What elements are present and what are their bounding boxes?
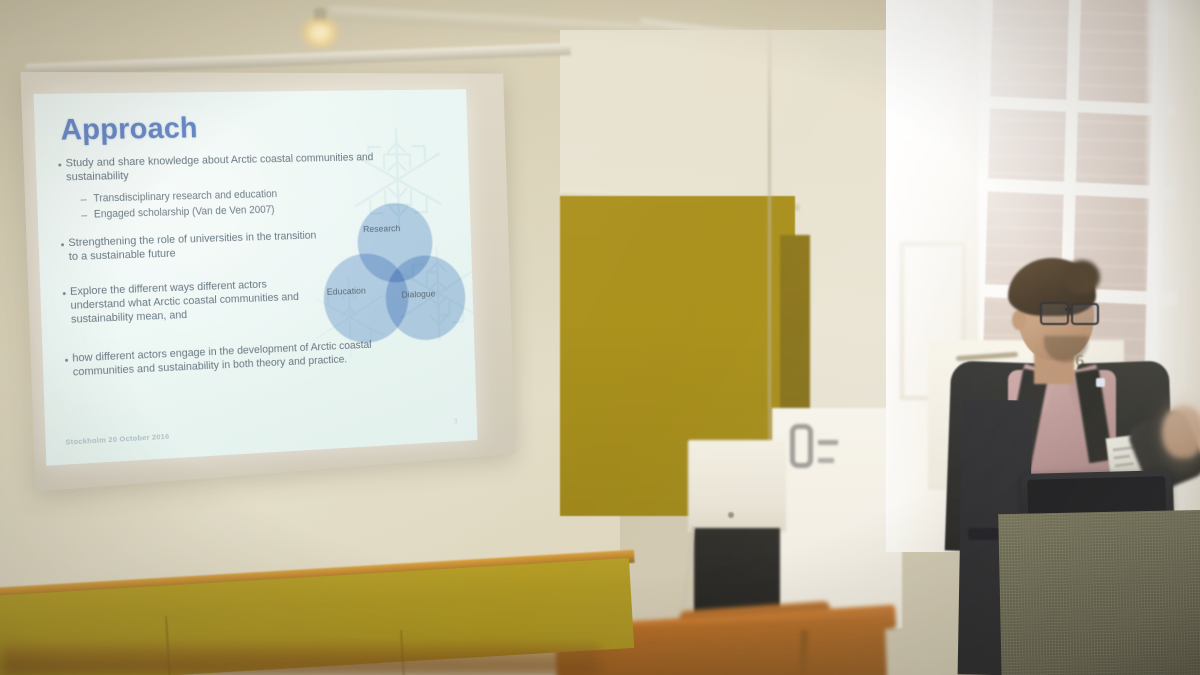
spotlight-glow: [300, 18, 340, 50]
whiteboard-mark-icon: [818, 458, 834, 463]
lectern-clip: [968, 528, 1002, 540]
whiteboard-mark-icon: [790, 424, 813, 468]
bullet-dot-icon: •: [58, 286, 70, 301]
venn-label-education: Education: [327, 286, 366, 298]
slide-footer: Stockholm 20 October 2016: [65, 432, 169, 447]
bullet-text: Explore the different ways different act…: [70, 277, 320, 327]
projected-slide: Approach • Study and share knowledge abo…: [34, 89, 478, 465]
venn-label-research: Research: [363, 223, 400, 235]
wall-cabinet: [688, 440, 786, 532]
whiteboard-mark-icon: [818, 440, 838, 445]
ceiling-spotlight-icon: [300, 8, 340, 50]
badge-text-line: [1114, 455, 1130, 460]
foreground-blur: [0, 645, 600, 675]
cabinet-knob: [728, 512, 734, 518]
bullet-text: Study and share knowledge about Arctic c…: [65, 151, 386, 184]
venn-diagram: Research Education Dialogue: [320, 201, 469, 344]
glasses-lens-right: [1071, 303, 1099, 325]
bullet-item: • Study and share knowledge about Arctic…: [54, 150, 430, 184]
badge-text-line: [1115, 462, 1134, 467]
wall-corner: [768, 20, 771, 480]
bullet-text: how different actors engage in the devel…: [72, 338, 393, 379]
glasses-lens-left: [1040, 302, 1069, 325]
dash-icon: –: [80, 193, 93, 207]
hair-curl: [1064, 260, 1100, 294]
bullet-text: Strengthening the role of universities i…: [68, 230, 324, 265]
cable: [680, 526, 695, 622]
bullet-dot-icon: •: [54, 157, 66, 172]
lapel-pin-icon: [1096, 378, 1105, 387]
lectern-mesh-texture: [998, 510, 1200, 675]
hand: [1162, 406, 1200, 458]
room-photo: Approach • Study and share knowledge abo…: [0, 0, 1200, 675]
bullet-dot-icon: •: [56, 237, 68, 252]
bullet-dot-icon: •: [60, 353, 72, 368]
venn-label-dialogue: Dialogue: [401, 289, 435, 301]
bullet-item: • how different actors engage in the dev…: [60, 336, 436, 380]
glasses-icon: [1040, 302, 1098, 322]
dash-icon: –: [81, 209, 94, 223]
slide-title: Approach: [60, 112, 198, 148]
slide-page-number: 3: [454, 417, 458, 426]
